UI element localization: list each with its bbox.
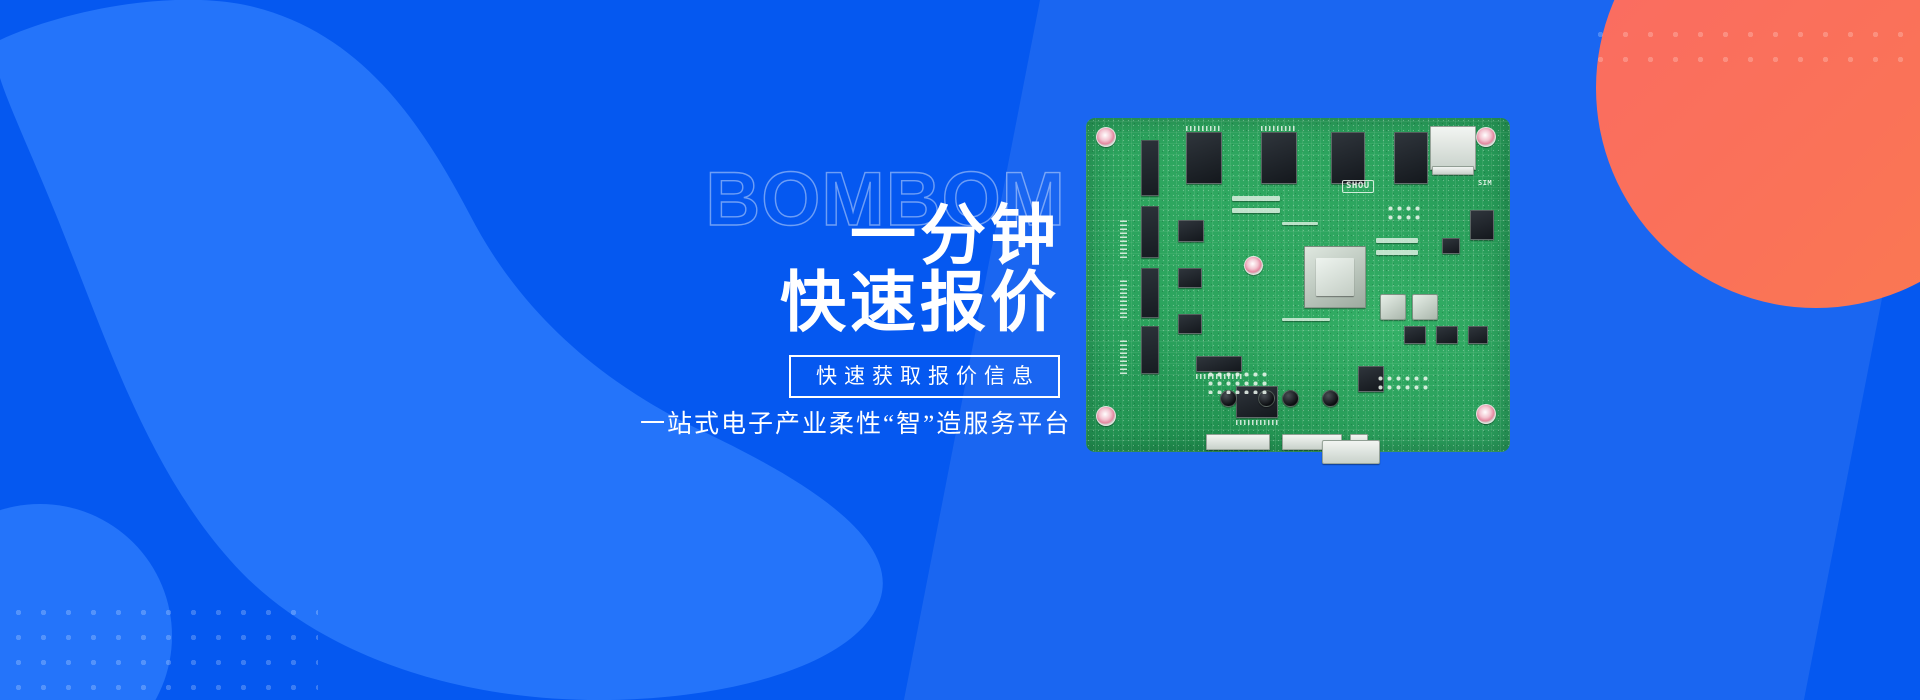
pin-bank xyxy=(1196,374,1242,379)
pin-bank xyxy=(1120,278,1127,318)
mount-hole-icon xyxy=(1476,404,1496,424)
card-connector xyxy=(1430,126,1476,170)
processor-die xyxy=(1316,258,1354,296)
pin-bank xyxy=(1120,218,1127,258)
solder-pad xyxy=(1376,250,1418,255)
memory-chip xyxy=(1141,268,1159,318)
ic-chip xyxy=(1178,314,1202,334)
solder-pad xyxy=(1232,196,1280,201)
pin-bank xyxy=(1120,338,1127,374)
pcb-brand-label: SHOU xyxy=(1342,180,1374,193)
capacitor xyxy=(1322,390,1339,407)
ic-chip xyxy=(1468,326,1488,344)
inductor xyxy=(1412,294,1438,320)
capacitor xyxy=(1282,390,1299,407)
ic-chip xyxy=(1261,132,1297,184)
ic-chip xyxy=(1436,326,1458,344)
headline-line-2: 快速报价 xyxy=(640,269,1060,336)
memory-chip xyxy=(1141,140,1159,196)
mount-hole-icon xyxy=(1096,406,1116,426)
pcb-substrate: SHOU SIM xyxy=(1086,118,1510,452)
get-quote-button[interactable]: 快速获取报价信息 xyxy=(789,355,1060,398)
ic-chip xyxy=(1178,220,1204,242)
ic-chip xyxy=(1394,132,1428,184)
ic-chip xyxy=(1470,210,1494,240)
hero-text-block: BOMBOM 一分钟 快速报价 快速获取报价信息 一站式电子产业柔性“智”造服务… xyxy=(640,150,1060,437)
inductor xyxy=(1380,294,1406,320)
pcb-side-label: SIM xyxy=(1478,180,1492,187)
via-field xyxy=(1386,204,1422,220)
via-field xyxy=(1376,374,1428,392)
solder-pad xyxy=(1376,238,1418,243)
card-connector-tray xyxy=(1432,166,1474,175)
ic-chip xyxy=(1442,238,1460,254)
pin-bank xyxy=(1261,126,1297,131)
pin-bank xyxy=(1186,126,1222,131)
mount-hole-icon xyxy=(1096,127,1116,147)
silkscreen-mark xyxy=(1282,222,1318,225)
edge-connector xyxy=(1206,434,1270,450)
dot-grid-top-right xyxy=(1588,22,1912,72)
memory-chip xyxy=(1141,326,1159,374)
memory-chip xyxy=(1141,206,1159,258)
dot-grid-bottom-left xyxy=(6,600,318,700)
ic-chip xyxy=(1331,132,1365,184)
subtitle-text: 一站式电子产业柔性“智”造服务平台 xyxy=(640,412,1060,437)
solder-pad xyxy=(1232,208,1280,213)
page-title: 一分钟 快速报价 xyxy=(640,150,1060,337)
ic-chip xyxy=(1186,132,1222,184)
ic-chip xyxy=(1178,268,1202,288)
io-shield xyxy=(1322,440,1380,464)
promo-banner: SHOU SIM BOMBOM 一分钟 快速报价 快速获取报价信息 一站式电子产… xyxy=(0,0,1920,700)
ic-chip xyxy=(1404,326,1426,344)
pin-bank xyxy=(1236,420,1278,425)
mount-hole-icon xyxy=(1476,127,1496,147)
silkscreen-mark xyxy=(1282,318,1330,321)
headline-line-1: 一分钟 xyxy=(850,198,1060,272)
mount-hole-icon xyxy=(1244,256,1263,275)
circuit-board-image: SHOU SIM xyxy=(1086,118,1510,452)
